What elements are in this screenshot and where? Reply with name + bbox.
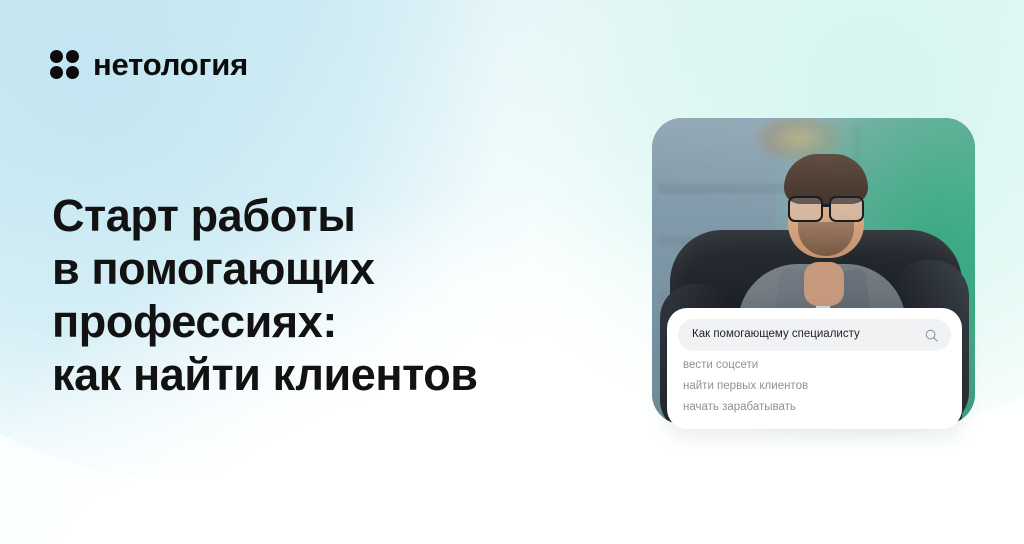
search-suggestion-item[interactable]: найти первых клиентов [678, 372, 951, 393]
page-title: Старт работы в помогающих профессиях: ка… [52, 190, 652, 402]
search-suggestion-item[interactable]: начать зарабатывать [678, 393, 951, 414]
four-dots-icon [50, 50, 79, 79]
brand-wordmark: нетология [93, 49, 248, 80]
promo-banner: нетология Старт работы в помогающих проф… [0, 0, 1024, 544]
search-input[interactable]: Как помогающему специалисту [692, 329, 924, 341]
brand-logo[interactable]: нетология [50, 49, 248, 80]
search-input-field[interactable]: Как помогающему специалисту [678, 319, 951, 351]
search-suggestions-list: вести соцсети найти первых клиентов нача… [678, 351, 951, 415]
search-icon[interactable] [924, 328, 939, 343]
search-suggestion-item[interactable]: вести соцсети [678, 351, 951, 372]
search-widget: Как помогающему специалисту вести соцсет… [667, 308, 962, 429]
